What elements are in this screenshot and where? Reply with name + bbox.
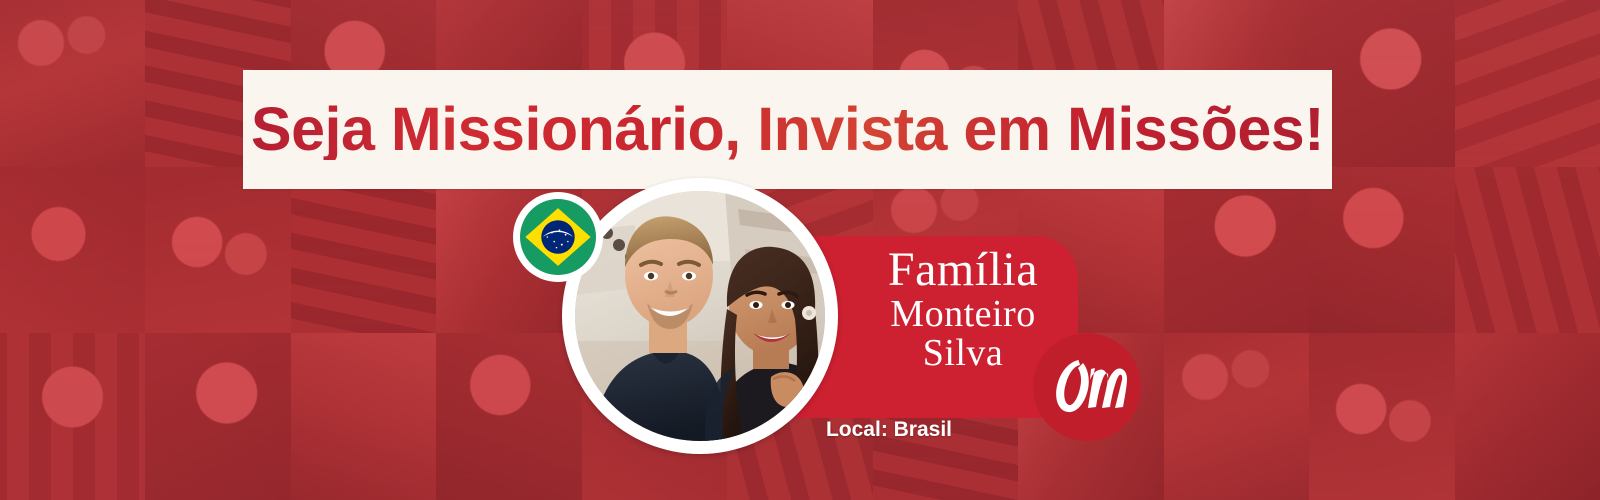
om-logo-circle	[1033, 333, 1141, 441]
headline-band: Seja Missionário, Invista em Missões!	[243, 70, 1332, 189]
missionary-banner: Seja Missionário, Invista em Missões! Fa…	[0, 0, 1600, 500]
family-label: Família	[858, 246, 1068, 295]
missionary-couple-photo	[575, 191, 825, 441]
portrait-ring	[562, 178, 838, 454]
family-name-block: Família Monteiro Silva	[858, 246, 1068, 372]
page-title: Seja Missionário, Invista em Missões!	[251, 99, 1324, 160]
brazil-flag-icon	[520, 199, 596, 275]
avatar	[575, 191, 825, 441]
country-flag-badge	[513, 192, 603, 282]
om-wordmark-icon	[1047, 356, 1127, 418]
family-surname-first: Monteiro	[858, 295, 1068, 334]
